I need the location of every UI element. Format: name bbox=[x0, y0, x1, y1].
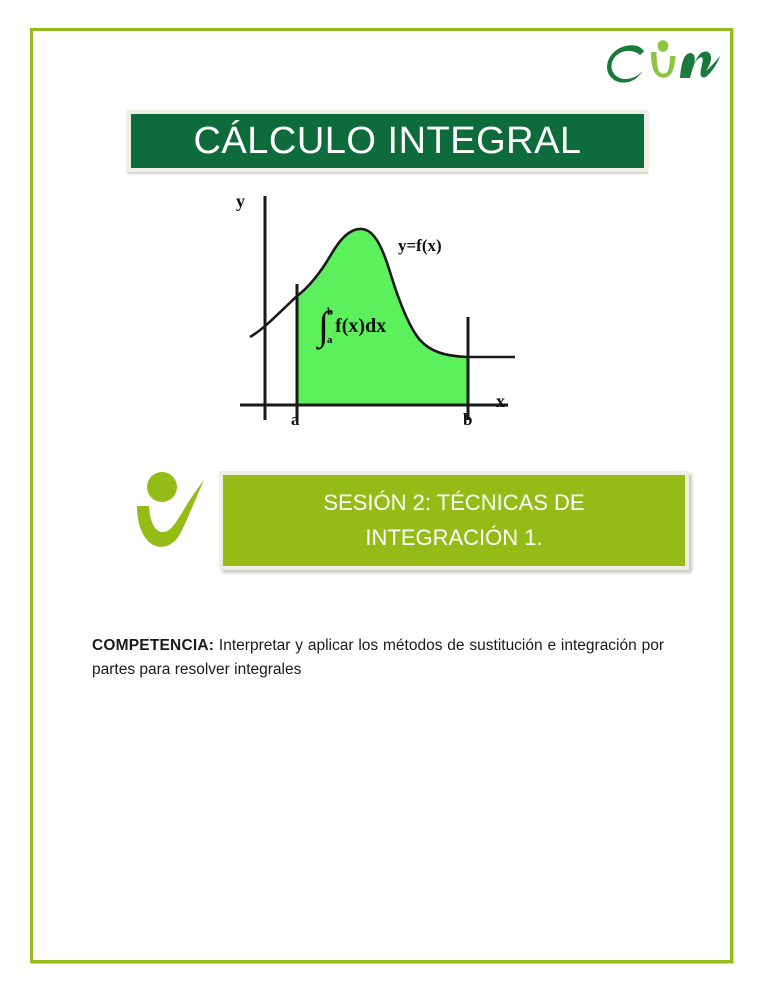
session-banner: SESIÓN 2: TÉCNICAS DE INTEGRACIÓN 1. bbox=[219, 471, 689, 570]
competencia-paragraph: COMPETENCIA: Interpretar y aplicar los m… bbox=[92, 634, 664, 683]
title-banner: CÁLCULO INTEGRAL bbox=[127, 110, 648, 172]
integral-expression: ∫ b a f(x)dx bbox=[318, 306, 386, 346]
page: CÁLCULO INTEGRAL y x y=f(x) a b ∫ bbox=[0, 0, 768, 994]
person-head-icon bbox=[147, 472, 177, 502]
cun-logo bbox=[606, 38, 724, 90]
logo-letter-c bbox=[607, 45, 644, 82]
logo-letter-u bbox=[651, 52, 676, 78]
integrand-label: f(x)dx bbox=[335, 315, 386, 338]
session-title-line-2: INTEGRACIÓN 1. bbox=[365, 521, 542, 555]
curve-label: y=f(x) bbox=[398, 236, 442, 256]
integral-lower-limit: a bbox=[327, 334, 333, 346]
logo-letter-n bbox=[680, 52, 720, 78]
definite-integral-diagram: y x y=f(x) a b ∫ b a f(x)dx bbox=[228, 188, 528, 428]
limit-label-a: a bbox=[291, 410, 300, 430]
page-title: CÁLCULO INTEGRAL bbox=[193, 122, 581, 160]
x-axis-label: x bbox=[496, 391, 505, 412]
competencia-label: COMPETENCIA: bbox=[92, 637, 214, 654]
logo-person-head-icon bbox=[658, 40, 669, 52]
cun-person-mark bbox=[132, 468, 210, 554]
y-axis-label: y bbox=[236, 191, 245, 212]
session-title-line-1: SESIÓN 2: TÉCNICAS DE bbox=[323, 486, 584, 520]
integral-upper-limit: b bbox=[327, 306, 333, 318]
limit-label-b: b bbox=[463, 410, 472, 430]
